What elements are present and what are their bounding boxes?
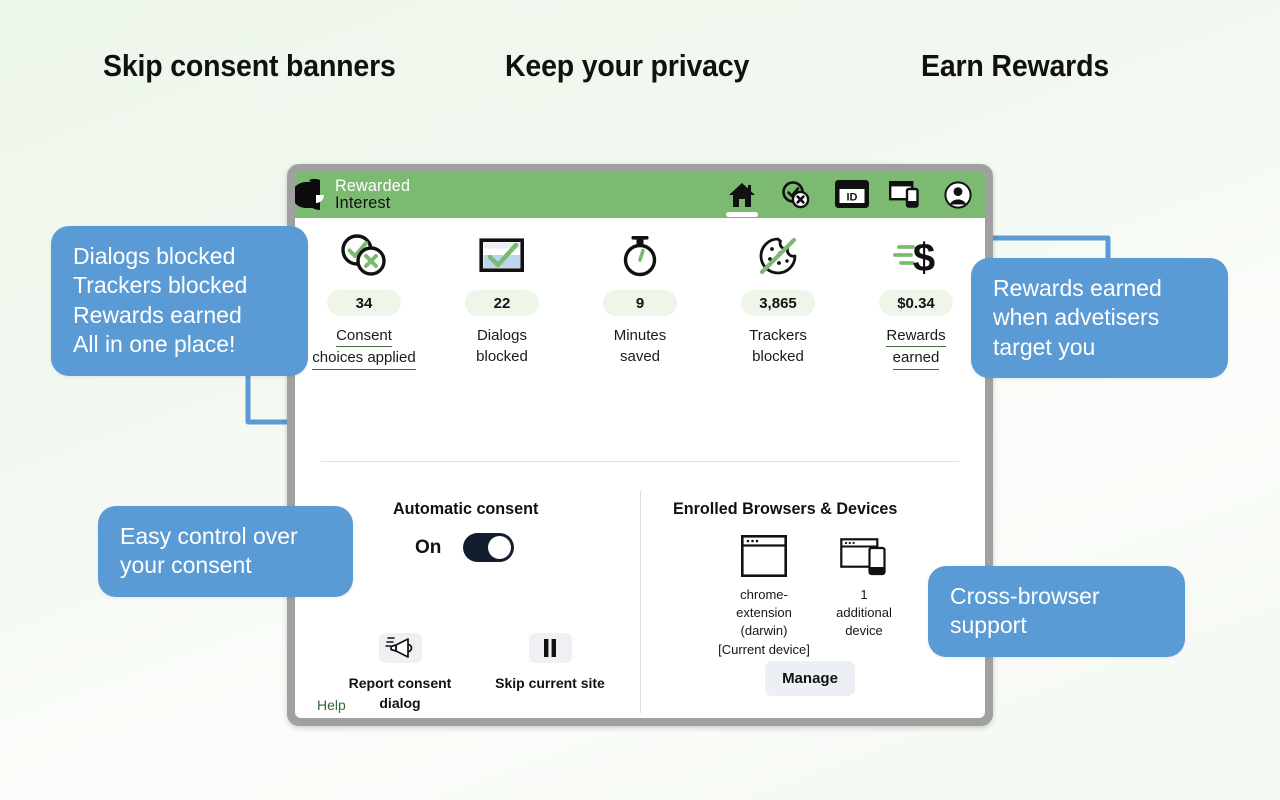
callout-line: when advetisers bbox=[993, 303, 1206, 332]
callout-line: Rewards earned bbox=[993, 274, 1206, 303]
stat-consent-choices[interactable]: 34 Consent choices applied bbox=[295, 218, 433, 378]
stat-label-line2: earned bbox=[893, 347, 940, 369]
device-name-line2: extension bbox=[736, 605, 792, 620]
rewarded-interest-logo-icon bbox=[306, 179, 333, 211]
stat-value: 34 bbox=[327, 290, 401, 316]
callout-cross-browser: Cross-browser support bbox=[928, 566, 1185, 657]
help-link[interactable]: Help bbox=[317, 697, 346, 713]
action-label: Report consent dialog bbox=[349, 673, 452, 714]
popup-header-icons: ID bbox=[727, 171, 973, 218]
stat-value: 22 bbox=[465, 290, 539, 316]
callout-line: Cross-browser bbox=[950, 582, 1163, 611]
stat-dialogs-blocked[interactable]: 22 Dialogs blocked bbox=[433, 218, 571, 378]
stat-minutes-saved[interactable]: 9 Minutes saved bbox=[571, 218, 709, 378]
stat-label: Trackers blocked bbox=[749, 325, 807, 368]
stat-label-line2: blocked bbox=[476, 348, 528, 365]
stat-value: $0.34 bbox=[879, 290, 953, 316]
popup-body: Rewarded Interest bbox=[295, 171, 985, 718]
stat-label-line1: Minutes bbox=[614, 327, 667, 344]
skip-current-site-action[interactable]: Skip current site bbox=[475, 633, 625, 714]
stat-label-line2: blocked bbox=[752, 348, 804, 365]
callout-line: Easy control over bbox=[120, 522, 331, 551]
consent-check-x-icon bbox=[338, 228, 390, 284]
device-name-line2: device bbox=[845, 623, 883, 638]
stat-label-line1: Dialogs bbox=[477, 327, 527, 344]
svg-text:$: $ bbox=[913, 236, 935, 280]
stat-label-line1: Rewards bbox=[886, 325, 945, 347]
headline-row: Skip consent banners Keep your privacy E… bbox=[0, 48, 1280, 100]
browser-window-icon bbox=[741, 531, 787, 577]
brand-logo: Rewarded Interest bbox=[306, 178, 414, 211]
stat-rewards-earned[interactable]: $ $0.34 Rewards earned bbox=[847, 218, 985, 378]
stat-label[interactable]: Rewards earned bbox=[886, 325, 945, 370]
device-name: 1 additional device bbox=[833, 586, 895, 640]
device-name: chrome- extension (darwin) bbox=[736, 586, 792, 640]
devices-icon[interactable] bbox=[889, 180, 919, 210]
stats-row: 34 Consent choices applied 22 bbox=[295, 218, 985, 378]
home-active-indicator bbox=[726, 212, 758, 217]
stat-label-line1: Trackers bbox=[749, 327, 807, 344]
action-label-line2: dialog bbox=[379, 695, 420, 711]
headline-keep-privacy: Keep your privacy bbox=[505, 48, 749, 84]
multi-device-icon bbox=[840, 531, 888, 577]
callout-line: your consent bbox=[120, 551, 331, 580]
stat-label[interactable]: Consent choices applied bbox=[312, 325, 415, 370]
consent-actions: Report consent dialog Skip current site bbox=[325, 633, 625, 714]
headline-earn-rewards: Earn Rewards bbox=[921, 48, 1109, 84]
report-consent-dialog-action[interactable]: Report consent dialog bbox=[325, 633, 475, 714]
device-name-line3: (darwin) bbox=[741, 623, 788, 638]
stat-label: Dialogs blocked bbox=[476, 325, 528, 368]
callout-line: Dialogs blocked bbox=[73, 242, 286, 271]
action-label: Skip current site bbox=[495, 673, 605, 693]
extension-popup-window: Rewarded Interest bbox=[287, 164, 993, 726]
profile-avatar-icon[interactable] bbox=[943, 180, 973, 210]
device-name-line1: 1 additional bbox=[836, 587, 892, 620]
home-icon[interactable] bbox=[727, 180, 757, 210]
manage-devices-button[interactable]: Manage bbox=[765, 661, 855, 696]
brand-line-2: Interest bbox=[335, 195, 410, 211]
stat-value: 9 bbox=[603, 290, 677, 316]
callout-features: Dialogs blocked Trackers blocked Rewards… bbox=[51, 226, 308, 376]
dollar-rewards-icon: $ bbox=[891, 228, 941, 284]
stat-trackers-blocked[interactable]: 3,865 Trackers blocked bbox=[709, 218, 847, 378]
stat-label: Minutes saved bbox=[614, 325, 667, 368]
action-label-line1: Skip current site bbox=[495, 675, 605, 691]
automatic-consent-toggle-row: On bbox=[415, 533, 514, 562]
device-name-line1: chrome- bbox=[740, 587, 788, 602]
id-badge-icon[interactable]: ID bbox=[835, 180, 865, 210]
callout-line: Trackers blocked bbox=[73, 271, 286, 300]
stat-label-line2: saved bbox=[620, 348, 660, 365]
callout-rewards: Rewards earned when advetisers target yo… bbox=[971, 258, 1228, 378]
automatic-consent-toggle[interactable] bbox=[463, 533, 514, 562]
callout-line: target you bbox=[993, 333, 1206, 362]
svg-text:ID: ID bbox=[847, 191, 858, 203]
headline-skip-consent: Skip consent banners bbox=[103, 48, 396, 84]
toggle-state-label: On bbox=[415, 537, 441, 559]
callout-easy-control: Easy control over your consent bbox=[98, 506, 353, 597]
pause-icon[interactable] bbox=[529, 633, 572, 663]
section-divider-vertical bbox=[640, 491, 641, 713]
section-divider-horizontal bbox=[321, 461, 959, 462]
callout-line: All in one place! bbox=[73, 330, 286, 359]
automatic-consent-title: Automatic consent bbox=[393, 499, 538, 519]
stat-label-line1: Consent bbox=[336, 325, 392, 347]
callout-line: support bbox=[950, 611, 1163, 640]
device-item-additional[interactable]: 1 additional device bbox=[833, 531, 895, 657]
cookie-blocked-icon bbox=[754, 228, 802, 284]
dialog-check-icon bbox=[479, 228, 525, 284]
toggle-knob bbox=[488, 536, 511, 559]
device-current-badge: [Current device] bbox=[718, 642, 810, 657]
popup-header: Rewarded Interest bbox=[295, 171, 985, 218]
stopwatch-icon bbox=[619, 228, 661, 284]
brand-wordmark: Rewarded Interest bbox=[335, 178, 414, 211]
stat-value: 3,865 bbox=[741, 290, 815, 316]
device-item-chrome-extension[interactable]: chrome- extension (darwin) [Current devi… bbox=[725, 531, 803, 657]
callout-line: Rewards earned bbox=[73, 301, 286, 330]
stat-label-line2: choices applied bbox=[312, 347, 415, 369]
action-label-line1: Report consent bbox=[349, 675, 452, 691]
consent-icon[interactable] bbox=[781, 180, 811, 210]
megaphone-icon[interactable] bbox=[379, 633, 422, 663]
enrolled-devices-title: Enrolled Browsers & Devices bbox=[673, 499, 897, 519]
enrolled-devices-list: chrome- extension (darwin) [Current devi… bbox=[725, 531, 895, 657]
